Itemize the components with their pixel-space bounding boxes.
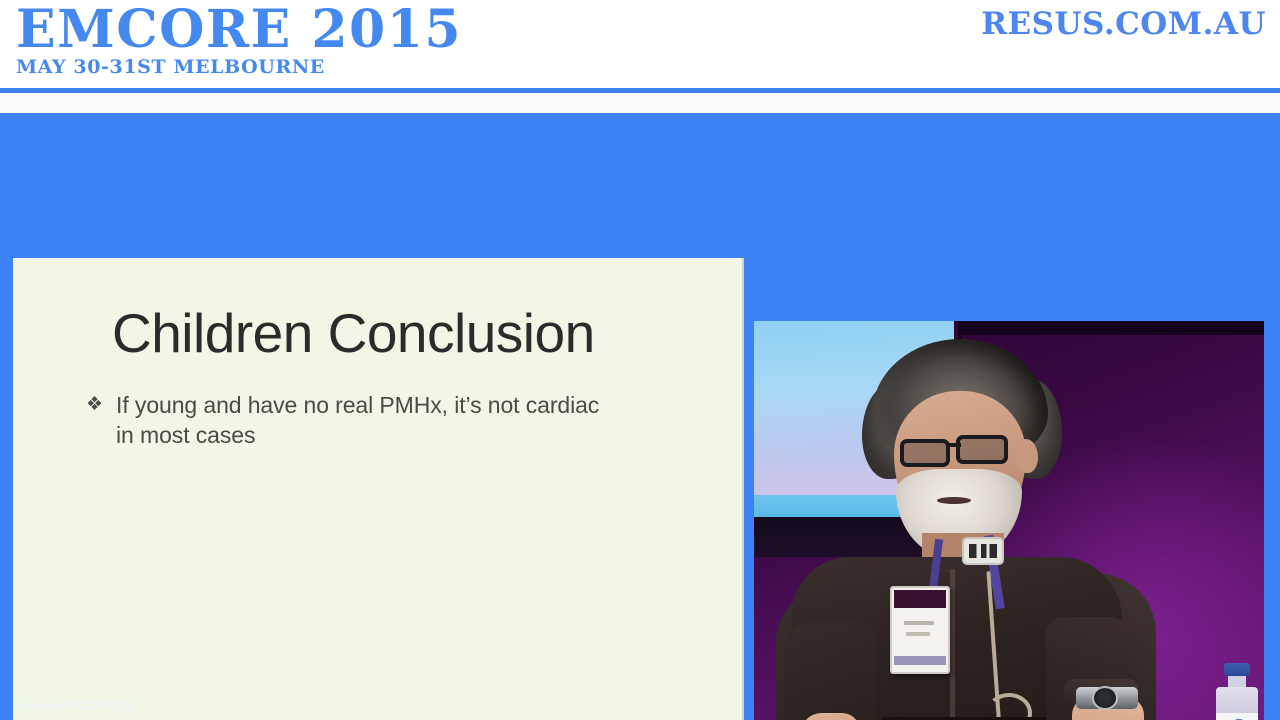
presentation-viewer: EMCORE 2015 MAY 30-31ST MELBOURNE RESUS.… (0, 0, 1280, 720)
speaker-id-badge-header (894, 590, 946, 608)
slide-title: Children Conclusion (112, 301, 595, 365)
speaker-id-badge-role-line (906, 632, 930, 636)
brand-title: EMCORE 2015 (16, 2, 462, 58)
slide-panel[interactable]: Children Conclusion ❖ If young and have … (13, 258, 744, 720)
speaker-shirt-placket (950, 569, 955, 720)
header-white-gap (0, 93, 1280, 113)
speaker-watch-face (1092, 686, 1118, 710)
slide-bullet-item: ❖ If young and have no real PMHx, it’s n… (86, 390, 686, 450)
slide-bullet-text: If young and have no real PMHx, it’s not… (116, 390, 601, 450)
site-logo[interactable]: RESUS.COM.AU (981, 6, 1266, 42)
speaker-mouth (937, 497, 971, 504)
diamond-bullet-icon: ❖ (86, 390, 103, 420)
speaker-glasses-bridge (947, 443, 961, 447)
speaker-glasses-left-lens (900, 439, 950, 467)
speaker-glasses-right-lens (956, 435, 1008, 464)
backdrop-top-shadow (960, 321, 1264, 335)
copyright-notice: Copyright EMCORE 2015. (18, 701, 140, 712)
stage-background: Children Conclusion ❖ If young and have … (0, 113, 1280, 720)
page-header: EMCORE 2015 MAY 30-31ST MELBOURNE RESUS.… (0, 0, 1280, 88)
speaker-id-badge-footer (894, 656, 946, 665)
water-bottle-cap (1224, 663, 1250, 676)
brand-block: EMCORE 2015 MAY 30-31ST MELBOURNE (16, 2, 462, 78)
speaker-id-badge-name-line (904, 621, 934, 625)
speaker-arm-left (784, 621, 876, 720)
speaker-pocket-badge (962, 537, 1004, 565)
speaker-ear (1016, 439, 1038, 473)
speaker-video-panel[interactable] (754, 321, 1264, 720)
